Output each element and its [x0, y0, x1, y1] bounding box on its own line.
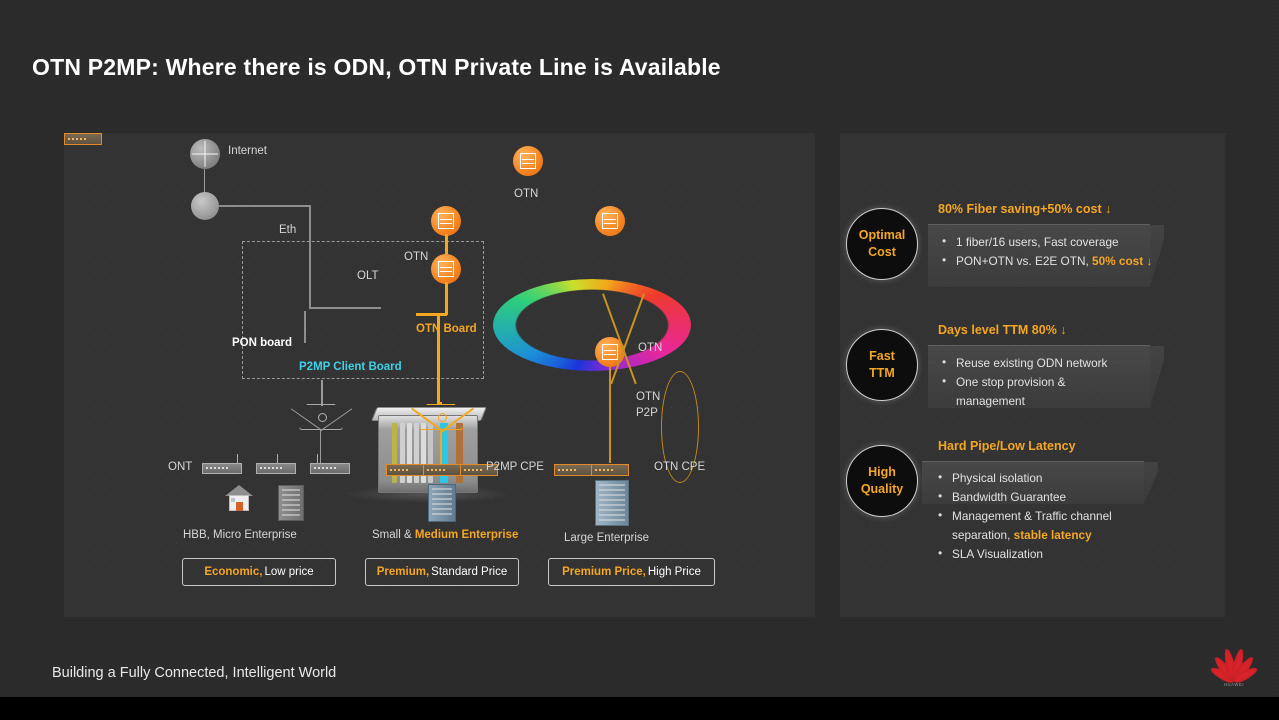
- connector-internet-to-cloud: [204, 169, 205, 194]
- benefit-heading-optimal-cost: 80% Fiber saving+50% cost ↓: [938, 202, 1111, 216]
- p2mp-cpe-1: [386, 464, 424, 476]
- label-otn-p2p-line1: OTN: [636, 391, 660, 403]
- bullet-plain: Bandwidth Guarantee: [952, 490, 1066, 504]
- medium-enterprise-building-icon: [428, 484, 456, 522]
- label-otn-cpe: OTN CPE: [654, 461, 705, 473]
- price-box-premium-standard[interactable]: Premium, Standard Price: [365, 558, 519, 586]
- page-title: OTN P2MP: Where there is ODN, OTN Privat…: [32, 54, 721, 81]
- p2mp-cpe-2: [423, 464, 461, 476]
- benefit-circle-line2: Quality: [861, 481, 903, 498]
- aggregation-node-icon: [191, 192, 219, 220]
- list-item: Management & Traffic channel separation,…: [936, 507, 1136, 545]
- list-item: Physical isolation: [936, 469, 1136, 488]
- bullet-highlight: 50% cost ↓: [1092, 254, 1152, 268]
- segment-caption-2: Small & Medium Enterprise: [372, 529, 518, 541]
- otn-link-to-otn-board: [445, 282, 448, 315]
- large-enterprise-building-icon: [595, 480, 629, 526]
- micro-enterprise-building-icon: [278, 485, 304, 521]
- label-pon-board: PON board: [232, 337, 292, 349]
- benefit-circle-line2: TTM: [869, 365, 895, 382]
- bullet-plain: Physical isolation: [952, 471, 1043, 485]
- list-item: SLA Visualization: [936, 545, 1136, 564]
- benefit-bullets-optimal-cost: 1 fiber/16 users, Fast coverage PON+OTN …: [940, 233, 1190, 271]
- ont-drop-2: [320, 430, 321, 465]
- huawei-logo-icon: [1206, 645, 1262, 687]
- benefit-bullets-high-quality: Physical isolation Bandwidth Guarantee M…: [936, 469, 1136, 564]
- ont-device-1: [202, 463, 242, 474]
- segment-caption-3-plain: Large Enterprise: [564, 532, 649, 544]
- shelf-tail: [1150, 346, 1164, 408]
- ont-leg: [277, 454, 278, 464]
- label-otn-right: OTN: [638, 342, 662, 354]
- internet-globe-icon: [190, 139, 220, 169]
- price-box-economic[interactable]: Economic, Low price: [182, 558, 336, 586]
- list-item: Reuse existing ODN network: [940, 354, 1120, 373]
- benefit-heading-fast-ttm: Days level TTM 80% ↓: [938, 323, 1067, 337]
- otn-node-top: [513, 146, 543, 176]
- label-eth: Eth: [279, 224, 296, 236]
- otn-node-access: [431, 254, 461, 284]
- logo-wordmark: HUAWEI: [1204, 682, 1264, 687]
- bullet-plain: SLA Visualization: [952, 547, 1043, 561]
- benefit-circle-optimal-cost: Optimal Cost: [846, 208, 918, 280]
- house-door: [236, 502, 243, 511]
- price-box-premium-high[interactable]: Premium Price, High Price: [548, 558, 715, 586]
- bottom-bar: [0, 697, 1279, 720]
- label-p2mp-client-board: P2MP Client Board: [299, 361, 402, 373]
- otn-cpe-1: [554, 464, 592, 476]
- segment-caption-3: Large Enterprise: [564, 532, 649, 544]
- house-window: [231, 498, 235, 502]
- price-box-economic-highlight: Economic,: [204, 566, 262, 578]
- benefit-circle-high-quality: High Quality: [846, 445, 918, 517]
- eth-link-horizontal: [219, 205, 311, 207]
- price-box-premium-standard-highlight: Premium,: [377, 566, 429, 578]
- otn-ring: [493, 279, 691, 371]
- footer-tagline: Building a Fully Connected, Intelligent …: [52, 665, 336, 681]
- price-box-premium-standard-rest: Standard Price: [431, 566, 507, 578]
- label-ont: ONT: [168, 461, 192, 473]
- ont-device-3: [310, 463, 350, 474]
- pon-downlink: [321, 380, 323, 406]
- splitter-port: [318, 413, 327, 422]
- label-otn-p2p-line2: P2P: [636, 407, 658, 419]
- splitter-port: [438, 413, 447, 422]
- benefit-circle-fast-ttm: Fast TTM: [846, 329, 918, 401]
- price-box-premium-high-highlight: Premium Price,: [562, 566, 646, 578]
- list-item: 1 fiber/16 users, Fast coverage: [940, 233, 1190, 252]
- price-box-premium-high-rest: High Price: [648, 566, 701, 578]
- benefit-circle-line2: Cost: [868, 244, 896, 261]
- label-otn-board: OTN Board: [416, 323, 477, 335]
- label-p2mp-cpe: P2MP CPE: [486, 461, 544, 473]
- list-item: One stop provision & management: [940, 373, 1120, 411]
- label-olt: OLT: [357, 270, 379, 282]
- list-item: Bandwidth Guarantee: [936, 488, 1136, 507]
- house-icon: [225, 485, 253, 511]
- otn-cpe-2: [591, 464, 629, 476]
- p2mp-downlink-vertical: [437, 315, 440, 405]
- segment-caption-1-plain: HBB, Micro Enterprise: [183, 529, 297, 541]
- shelf-tail: [1144, 462, 1158, 504]
- benefit-circle-line1: Fast: [869, 348, 895, 365]
- pon-splitter: [299, 404, 343, 430]
- bullet-highlight: stable latency: [1014, 528, 1092, 542]
- segment-caption-1: HBB, Micro Enterprise: [183, 529, 297, 541]
- label-otn-ring: OTN: [514, 188, 538, 200]
- pon-board-leader: [304, 311, 306, 343]
- otn-node-right: [595, 206, 625, 236]
- p2mp-cpe-drop-2: [440, 431, 442, 467]
- bullet-plain: One stop provision & management: [956, 375, 1066, 408]
- ont-leg: [237, 454, 238, 464]
- segment-caption-2-plain: Small &: [372, 529, 415, 541]
- benefit-circle-line1: Optimal: [859, 227, 906, 244]
- bullet-plain: 1 fiber/16 users, Fast coverage: [956, 235, 1119, 249]
- benefit-heading-high-quality: Hard Pipe/Low Latency: [938, 439, 1076, 453]
- price-box-economic-rest: Low price: [264, 566, 313, 578]
- ont-device-2: [256, 463, 296, 474]
- otn-cpe-3: [64, 133, 102, 145]
- segment-caption-2-highlight: Medium Enterprise: [415, 529, 519, 541]
- ont-leg: [317, 454, 318, 464]
- benefits-panel: Optimal Cost 80% Fiber saving+50% cost ↓…: [840, 133, 1225, 617]
- list-item: PON+OTN vs. E2E OTN, 50% cost ↓: [940, 252, 1190, 271]
- label-otn-access: OTN: [404, 251, 428, 263]
- slide-canvas: OTN P2MP: Where there is ODN, OTN Privat…: [0, 0, 1279, 720]
- label-internet: Internet: [228, 145, 267, 157]
- bullet-plain: PON+OTN vs. E2E OTN,: [956, 254, 1092, 268]
- bullet-plain: Reuse existing ODN network: [956, 356, 1107, 370]
- architecture-diagram-panel: Internet Eth OTN OTN OLT: [64, 133, 815, 617]
- otn-node-left: [431, 206, 461, 236]
- benefit-bullets-fast-ttm: Reuse existing ODN network One stop prov…: [940, 354, 1120, 411]
- benefit-circle-line1: High: [868, 464, 896, 481]
- otn-link-to-otn-board-h: [416, 313, 447, 316]
